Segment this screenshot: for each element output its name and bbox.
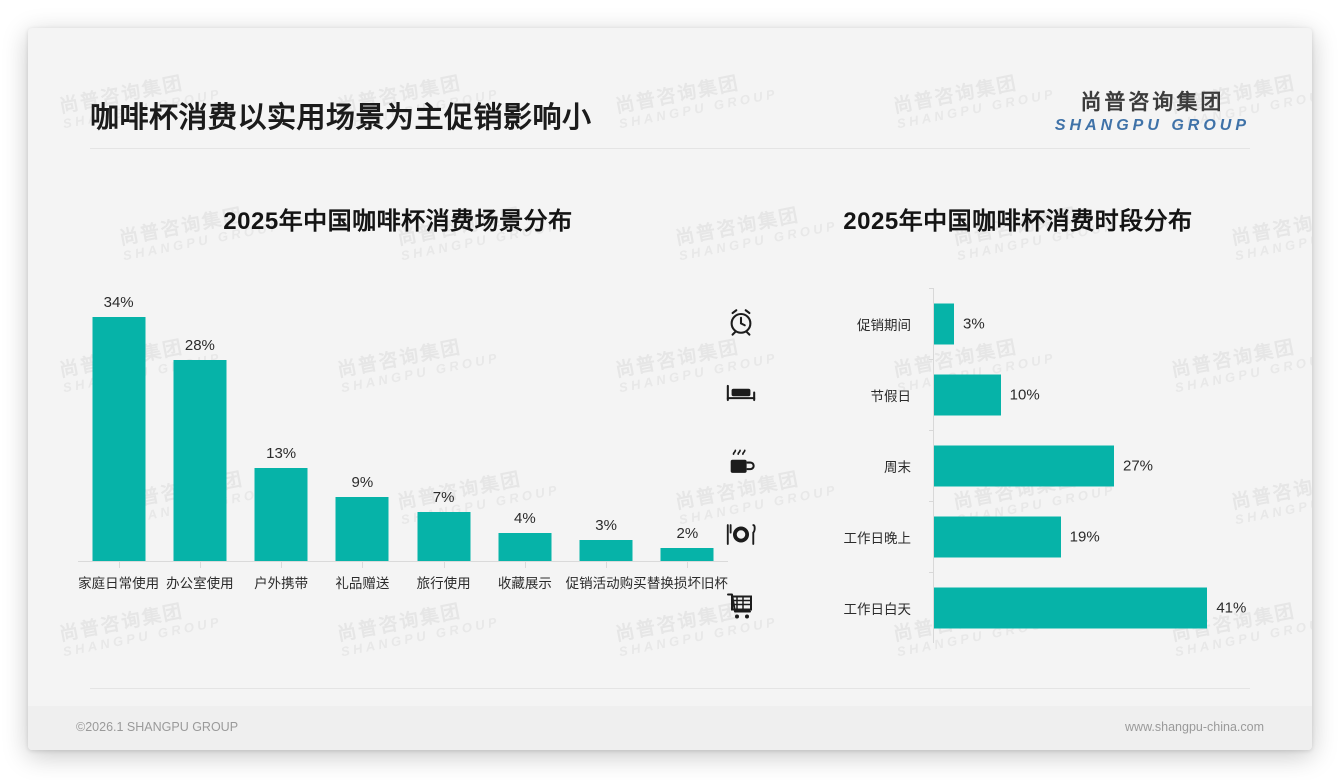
chart-panel-timeslots: 2025年中国咖啡杯消费时段分布 促销期间3%节假日10%周末27%工作日晚上1…: [758, 168, 1278, 648]
brand-logo: 尚普咨询集团 SHANGPU GROUP: [1055, 86, 1250, 135]
bed-icon: [721, 377, 761, 412]
horizontal-bar[interactable]: [934, 516, 1061, 557]
column-chart-category-axis: 家庭日常使用办公室使用户外携带礼品赠送旅行使用收藏展示促销活动购买替换损坏旧杯: [78, 566, 728, 598]
column-category-label: 礼品赠送: [335, 572, 389, 592]
column-bar[interactable]: [580, 540, 633, 562]
page-title: 咖啡杯消费以实用场景为主促销影响小: [90, 94, 592, 136]
column-value-label: 2%: [677, 525, 699, 542]
column-value-label: 4%: [514, 510, 536, 527]
source-divider: [90, 688, 1250, 689]
axis-tick: [929, 430, 934, 431]
dining-plate-icon: [721, 519, 761, 554]
column-group: 3%: [566, 288, 647, 562]
shopping-cart-icon: [721, 590, 761, 625]
column-bar[interactable]: [498, 533, 551, 562]
column-chart-plot-area: 34%28%13%9%7%4%3%2%: [78, 288, 728, 562]
column-category-slot: 替换损坏旧杯: [647, 566, 728, 598]
axis-tick: [929, 501, 934, 502]
column-category-slot: 家庭日常使用: [78, 566, 159, 598]
column-category-slot: 旅行使用: [403, 566, 484, 598]
bar-row: 促销期间3%: [933, 288, 1278, 359]
logo-chinese-text: 尚普咨询集团: [1055, 86, 1250, 116]
bar-row: 工作日白天41%: [933, 572, 1278, 643]
column-bar[interactable]: [92, 317, 145, 562]
column-category-slot: 办公室使用: [159, 566, 240, 598]
bar-row: 周末27%: [933, 430, 1278, 501]
bar-category-label: 促销期间: [773, 314, 911, 334]
axis-tick: [929, 359, 934, 360]
bar-category-label: 工作日晚上: [773, 527, 911, 547]
slide-card: 尚普咨询集团SHANGPU GROUP尚普咨询集团SHANGPU GROUP尚普…: [28, 28, 1312, 750]
column-bar[interactable]: [255, 468, 308, 562]
chart-title-timeslots: 2025年中国咖啡杯消费时段分布: [758, 201, 1278, 236]
column-category-slot: 礼品赠送: [322, 566, 403, 598]
column-bar[interactable]: [336, 497, 389, 562]
column-group: 7%: [403, 288, 484, 562]
copyright-text: ©2026.1 SHANGPU GROUP: [76, 720, 238, 734]
column-group: 2%: [647, 288, 728, 562]
column-group: 13%: [241, 288, 322, 562]
bar-value-label: 27%: [1123, 457, 1153, 474]
column-category-label: 户外携带: [254, 572, 308, 592]
column-group: 4%: [484, 288, 565, 562]
header-divider: [90, 148, 1250, 149]
slide-footer: ©2026.1 SHANGPU GROUP www.shangpu-china.…: [28, 706, 1312, 750]
horizontal-bar[interactable]: [934, 587, 1207, 628]
logo-english-text: SHANGPU GROUP: [1055, 117, 1250, 135]
axis-tick: [929, 572, 934, 573]
column-category-label: 替换损坏旧杯: [647, 572, 728, 592]
column-value-label: 28%: [185, 337, 215, 354]
column-value-label: 34%: [104, 294, 134, 311]
bar-row: 节假日10%: [933, 359, 1278, 430]
column-category-label: 旅行使用: [417, 572, 471, 592]
column-chart-baseline: [78, 561, 728, 562]
website-link[interactable]: www.shangpu-china.com: [1125, 720, 1264, 734]
column-chart-scenarios: 34%28%13%9%7%4%3%2% 家庭日常使用办公室使用户外携带礼品赠送旅…: [78, 288, 728, 598]
bar-value-label: 3%: [963, 315, 985, 332]
chart-panel-scenarios: 2025年中国咖啡杯消费场景分布 34%28%13%9%7%4%3%2% 家庭日…: [68, 168, 728, 648]
bar-category-label: 周末: [773, 456, 911, 476]
slide-header: 咖啡杯消费以实用场景为主促销影响小 尚普咨询集团 SHANGPU GROUP: [28, 28, 1312, 134]
axis-tick: [929, 288, 934, 289]
column-bar[interactable]: [661, 548, 714, 562]
column-category-label: 办公室使用: [166, 572, 234, 592]
column-value-label: 3%: [595, 517, 617, 534]
column-value-label: 9%: [352, 474, 374, 491]
column-group: 34%: [78, 288, 159, 562]
column-bar[interactable]: [173, 360, 226, 562]
column-group: 28%: [159, 288, 240, 562]
coffee-mug-icon: [721, 448, 761, 483]
horizontal-bar[interactable]: [934, 445, 1114, 486]
column-value-label: 13%: [266, 445, 296, 462]
bar-value-label: 19%: [1070, 528, 1100, 545]
column-group: 9%: [322, 288, 403, 562]
bar-category-label: 节假日: [773, 385, 911, 405]
bar-row: 工作日晚上19%: [933, 501, 1278, 572]
alarm-clock-icon: [721, 306, 761, 341]
bar-chart-timeslots: 促销期间3%节假日10%周末27%工作日晚上19%工作日白天41%: [933, 288, 1278, 658]
bar-category-label: 工作日白天: [773, 598, 911, 618]
bar-value-label: 41%: [1216, 599, 1246, 616]
bar-value-label: 10%: [1010, 386, 1040, 403]
horizontal-bar[interactable]: [934, 303, 954, 344]
column-category-label: 收藏展示: [498, 572, 552, 592]
chart-title-scenarios: 2025年中国咖啡杯消费场景分布: [68, 201, 728, 236]
horizontal-bar[interactable]: [934, 374, 1001, 415]
column-bar[interactable]: [417, 512, 470, 562]
column-value-label: 7%: [433, 489, 455, 506]
column-category-slot: 收藏展示: [484, 566, 565, 598]
column-category-label: 促销活动购买: [566, 572, 647, 592]
column-category-slot: 户外携带: [241, 566, 322, 598]
column-category-slot: 促销活动购买: [566, 566, 647, 598]
column-category-label: 家庭日常使用: [78, 572, 159, 592]
